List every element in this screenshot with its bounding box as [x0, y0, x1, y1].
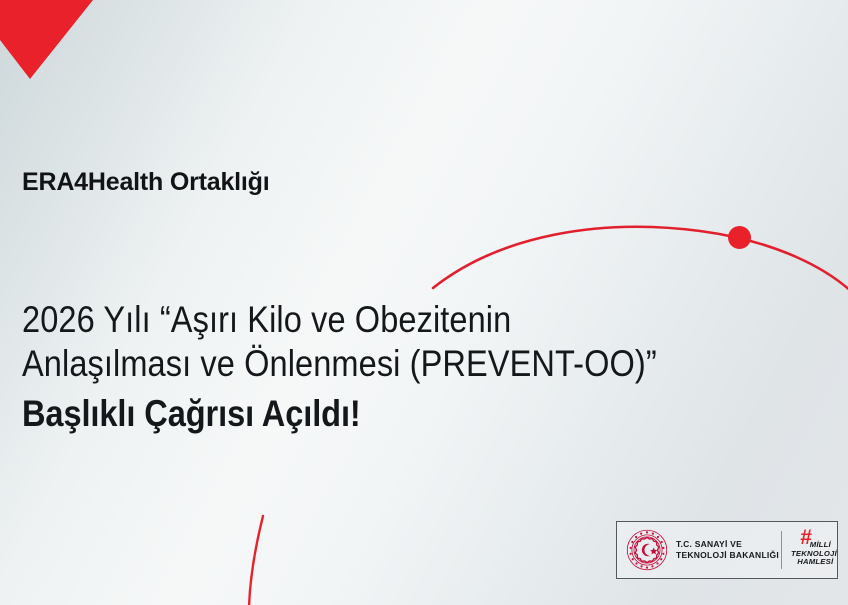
partnership-name: ERA4Health Ortaklığı — [22, 168, 269, 197]
ministry-logo-lockup: T.C. SANAYİ VE TEKNOLOJİ BAKANLIĞI # MİL… — [616, 521, 838, 579]
red-corner-triangle-icon — [0, 0, 93, 79]
red-dot-accent — [728, 226, 751, 249]
title-line-3: Başlıklı Çağrısı Açıldı! — [22, 392, 638, 436]
title-line-2: Anlaşılması ve Önlenmesi (PREVENT-OO)” — [22, 342, 638, 386]
hamle-word-3: HAMLESİ — [797, 558, 848, 567]
ministry-seal-icon — [626, 529, 668, 571]
ministry-name-line-1: T.C. SANAYİ VE — [676, 539, 779, 551]
promotional-banner: ERA4Health Ortaklığı 2026 Yılı “Aşırı Ki… — [0, 0, 848, 605]
ministry-name-line-2: TEKNOLOJİ BAKANLIĞI — [676, 550, 779, 562]
milli-teknoloji-hamlesi-logo: # MİLLİ TEKNOLOJİ HAMLESİ — [791, 528, 848, 572]
announcement-title: 2026 Yılı “Aşırı Kilo ve Obezitenin Anla… — [22, 298, 722, 436]
logo-divider — [781, 531, 782, 569]
ministry-name: T.C. SANAYİ VE TEKNOLOJİ BAKANLIĞI — [676, 539, 779, 562]
title-line-1: 2026 Yılı “Aşırı Kilo ve Obezitenin — [22, 298, 638, 342]
hamle-wordmark: MİLLİ TEKNOLOJİ HAMLESİ — [791, 541, 848, 567]
